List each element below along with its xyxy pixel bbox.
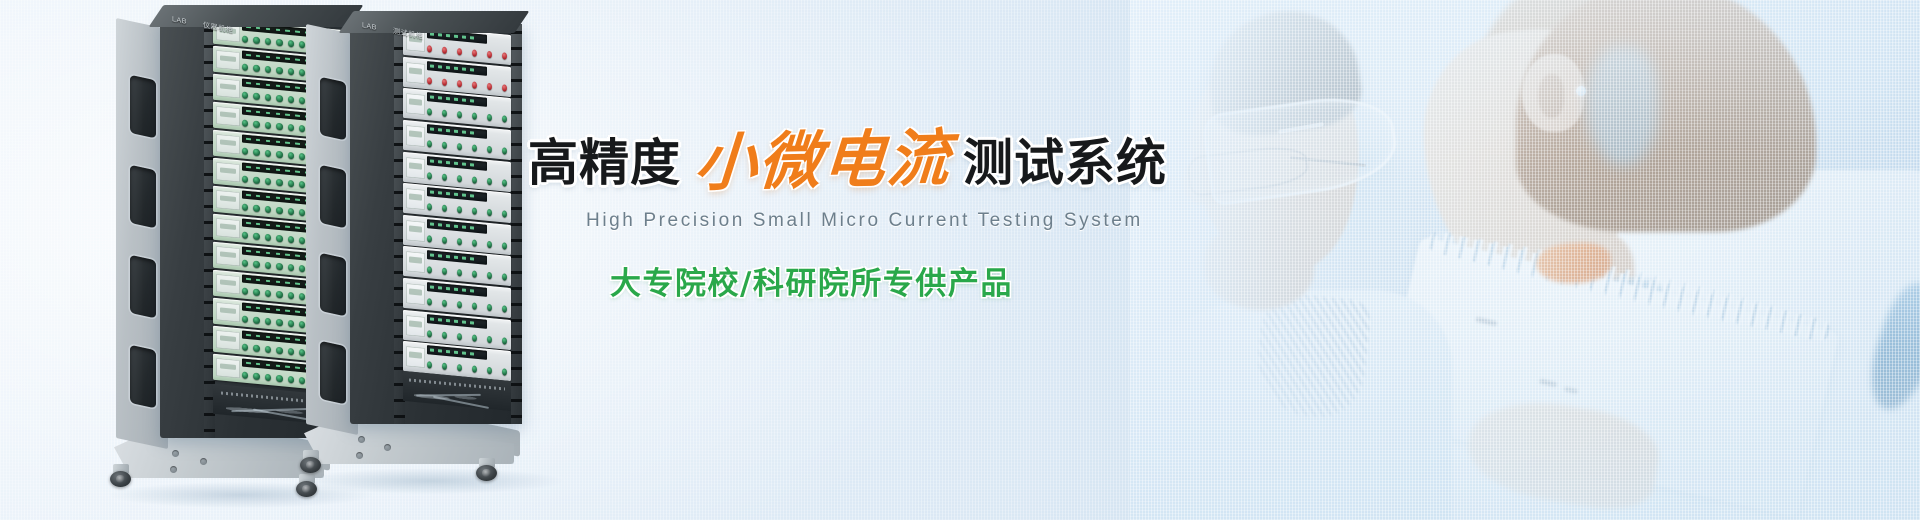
knob-icon <box>253 93 259 100</box>
knob-icon <box>276 319 282 326</box>
product-racks: LAB 仪器机柜 <box>0 0 540 520</box>
knob-icon <box>253 345 259 352</box>
instrument-rack-2: LAB 测试机柜 <box>306 24 518 424</box>
panel-left-module <box>406 252 425 273</box>
knob-icon <box>276 179 282 186</box>
knob-icon <box>265 178 271 185</box>
knob-icon <box>288 96 294 103</box>
headline: 高精度 小微电流 测试系统 <box>528 130 1308 188</box>
base-bolt <box>170 466 177 473</box>
terminal-post-red-icon <box>442 46 447 54</box>
knob-icon <box>265 122 271 129</box>
knob-icon <box>299 349 305 356</box>
terminal-post-green-icon <box>502 337 507 345</box>
terminal-post-green-icon <box>487 240 492 248</box>
terminal-post-green-icon <box>442 173 447 181</box>
knob-icon <box>276 375 282 382</box>
knob-icon <box>242 92 248 99</box>
knob-icon <box>288 180 294 187</box>
knob-icon <box>253 37 259 44</box>
rail-screw-holes <box>511 24 522 424</box>
terminal-post-green-icon <box>442 268 447 276</box>
panel-left-module <box>406 315 425 336</box>
headline-highlight: 小微电流 <box>693 127 954 194</box>
terminal-post-green-icon <box>472 176 477 184</box>
panel-display-icon <box>427 219 487 234</box>
terminal-post-green-icon <box>442 363 447 371</box>
knob-icon <box>299 181 305 188</box>
panel-display-icon <box>427 188 487 203</box>
terminal-post-green-icon <box>427 108 432 116</box>
terminal-post-green-icon <box>457 301 462 309</box>
terminal-post-green-icon <box>502 178 507 186</box>
terminal-post-green-icon <box>427 266 432 274</box>
knob-icon <box>253 177 259 184</box>
vent-slot-icon <box>130 255 156 319</box>
knob-icon <box>265 318 271 325</box>
terminal-post-green-icon <box>442 204 447 212</box>
terminal-post-green-icon <box>502 115 507 123</box>
knob-icon <box>265 234 271 241</box>
knob-icon <box>265 262 271 269</box>
knob-icon <box>265 290 271 297</box>
terminal-post-green-icon <box>427 329 432 337</box>
cable <box>416 394 481 397</box>
cable <box>433 395 489 408</box>
promo-banner: LAB 仪器机柜 <box>0 0 1920 520</box>
panel-left-module <box>216 134 240 153</box>
headline-part-2: 测试系统 <box>963 138 1167 188</box>
terminal-post-green-icon <box>502 242 507 250</box>
panel-display-icon <box>427 314 487 329</box>
terminal-post-green-icon <box>472 365 477 373</box>
knob-icon <box>288 376 294 383</box>
knob-icon <box>265 206 271 213</box>
panel-left-module <box>406 220 425 241</box>
base-bolt <box>356 452 363 459</box>
knob-icon <box>276 67 282 74</box>
terminal-post-green-icon <box>457 142 462 150</box>
knob-icon <box>242 288 248 295</box>
subtitle-english: High Precision Small Micro Current Testi… <box>586 210 1308 232</box>
tagline: 大专院校/科研院所专供产品 <box>610 258 1308 303</box>
knob-icon <box>242 232 248 239</box>
vent-slot-icon <box>320 165 346 229</box>
terminal-post-green-icon <box>472 334 477 342</box>
terminal-post-green-icon <box>487 272 492 280</box>
knob-icon <box>299 237 305 244</box>
base-bolt <box>358 436 365 443</box>
terminal-post-green-icon <box>427 361 432 369</box>
knob-icon <box>253 261 259 268</box>
rack-1-side-vents <box>126 18 160 445</box>
vent-slot-icon <box>320 77 346 141</box>
terminal-post-green-icon <box>442 299 447 307</box>
terminal-post-green-icon <box>502 368 507 376</box>
caster-wheel-icon <box>110 464 132 488</box>
knob-icon <box>265 374 271 381</box>
panel-display-icon <box>427 61 487 76</box>
terminal-post-green-icon <box>502 273 507 281</box>
panel-left-module <box>216 78 240 97</box>
panel-terminal-row <box>427 137 507 156</box>
panel-display-icon <box>427 156 487 171</box>
knob-icon <box>242 176 248 183</box>
knob-icon <box>299 69 305 76</box>
terminal-post-green-icon <box>427 171 432 179</box>
knob-icon <box>253 121 259 128</box>
rack-2-panel-stack <box>403 30 511 376</box>
panel-left-module <box>216 106 240 125</box>
terminal-post-green-icon <box>457 269 462 277</box>
terminal-post-green-icon <box>457 206 462 214</box>
knob-icon <box>299 209 305 216</box>
panel-left-module <box>216 358 240 377</box>
knob-icon <box>288 264 294 271</box>
panel-left-module <box>216 302 240 321</box>
knob-icon <box>265 346 271 353</box>
vent-slot-icon <box>320 253 346 317</box>
panel-left-module <box>406 93 425 114</box>
knob-icon <box>288 124 294 131</box>
knob-icon <box>288 68 294 75</box>
terminal-post-red-icon <box>472 81 477 89</box>
panel-left-module <box>216 190 240 209</box>
panel-left-module <box>216 274 240 293</box>
knob-icon <box>288 152 294 159</box>
terminal-post-green-icon <box>472 239 477 247</box>
knob-icon <box>299 41 305 48</box>
terminal-post-green-icon <box>472 270 477 278</box>
knob-icon <box>299 97 305 104</box>
caster-wheel <box>300 457 321 473</box>
terminal-post-red-icon <box>472 49 477 57</box>
terminal-post-green-icon <box>442 109 447 117</box>
terminal-post-red-icon <box>487 82 492 90</box>
panel-left-module <box>216 50 240 69</box>
knob-icon <box>288 292 294 299</box>
terminal-post-red-icon <box>457 48 462 56</box>
knob-icon <box>253 317 259 324</box>
terminal-post-red-icon <box>442 78 447 86</box>
terminal-post-green-icon <box>442 236 447 244</box>
knob-icon <box>265 150 271 157</box>
knob-icon <box>265 66 271 73</box>
terminal-post-green-icon <box>457 174 462 182</box>
vent-slot-icon <box>130 165 156 229</box>
knob-icon <box>253 373 259 380</box>
knob-icon <box>276 123 282 130</box>
knob-icon <box>242 148 248 155</box>
panel-left-module <box>406 347 425 368</box>
panel-left-module <box>216 330 240 349</box>
terminal-post-green-icon <box>502 147 507 155</box>
knob-icon <box>276 347 282 354</box>
panel-terminal-row <box>427 296 507 315</box>
knob-icon <box>288 348 294 355</box>
knob-icon <box>276 263 282 270</box>
headline-part-1: 高精度 <box>528 138 681 188</box>
knob-icon <box>299 377 305 384</box>
rack-2-side-vents <box>316 24 350 431</box>
terminal-post-green-icon <box>487 145 492 153</box>
knob-icon <box>276 151 282 158</box>
vent-slot-icon <box>320 341 346 405</box>
knob-icon <box>253 233 259 240</box>
knob-icon <box>288 40 294 47</box>
terminal-post-green-icon <box>487 367 492 375</box>
knob-icon <box>253 65 259 72</box>
terminal-post-green-icon <box>457 364 462 372</box>
knob-icon <box>242 372 248 379</box>
knob-icon <box>288 208 294 215</box>
terminal-post-green-icon <box>487 335 492 343</box>
caster-wheel <box>110 471 131 487</box>
rack-1-brand-label: LAB <box>172 16 187 26</box>
terminal-post-green-icon <box>487 177 492 185</box>
terminal-post-green-icon <box>487 114 492 122</box>
knob-icon <box>242 64 248 71</box>
knob-icon <box>276 95 282 102</box>
terminal-post-green-icon <box>502 305 507 313</box>
knob-icon <box>276 39 282 46</box>
panel-display-icon <box>427 93 487 108</box>
knob-icon <box>242 344 248 351</box>
knob-icon <box>299 265 305 272</box>
knob-icon <box>299 125 305 132</box>
terminal-post-red-icon <box>502 52 507 60</box>
panel-left-module <box>406 157 425 178</box>
terminal-post-green-icon <box>427 203 432 211</box>
knob-icon <box>253 205 259 212</box>
vent-slot-icon <box>130 345 156 409</box>
caster-wheel <box>476 465 497 481</box>
terminal-post-green-icon <box>457 237 462 245</box>
rack-2-frame <box>350 24 522 424</box>
terminal-post-red-icon <box>457 79 462 87</box>
knob-icon <box>242 36 248 43</box>
knob-icon <box>265 38 271 45</box>
panel-left-module <box>216 246 240 265</box>
panel-left-module <box>406 283 425 304</box>
terminal-post-green-icon <box>457 111 462 119</box>
terminal-post-red-icon <box>487 50 492 58</box>
panel-left-module <box>216 218 240 237</box>
knob-icon <box>276 291 282 298</box>
knob-icon <box>242 204 248 211</box>
banner-copy: 高精度 小微电流 测试系统 High Precision Small Micro… <box>528 130 1308 303</box>
panel-display-icon <box>427 346 487 361</box>
panel-terminal-row <box>427 201 507 220</box>
knob-icon <box>288 320 294 327</box>
panel-left-module <box>406 188 425 209</box>
panel-left-module <box>216 162 240 181</box>
base-bolt <box>200 458 207 465</box>
terminal-post-red-icon <box>427 45 432 53</box>
panel-left-module <box>406 125 425 146</box>
knob-icon <box>242 316 248 323</box>
rack-2-brand-label: LAB <box>362 22 377 32</box>
knob-icon <box>299 293 305 300</box>
terminal-post-green-icon <box>427 140 432 148</box>
base-bolt <box>384 444 391 451</box>
vent-slot-icon <box>130 75 156 139</box>
terminal-post-green-icon <box>427 298 432 306</box>
panel-display-icon <box>427 251 487 266</box>
terminal-post-green-icon <box>427 235 432 243</box>
caster-wheel-icon <box>300 450 322 474</box>
knob-icon <box>253 149 259 156</box>
terminal-post-green-icon <box>472 112 477 120</box>
terminal-post-green-icon <box>472 302 477 310</box>
terminal-post-green-icon <box>502 210 507 218</box>
base-bolt <box>172 450 179 457</box>
knob-icon <box>288 236 294 243</box>
terminal-post-green-icon <box>487 303 492 311</box>
terminal-post-red-icon <box>427 76 432 84</box>
caster-wheel-icon <box>476 458 498 482</box>
knob-icon <box>242 260 248 267</box>
terminal-post-red-icon <box>502 83 507 91</box>
knob-icon <box>253 289 259 296</box>
knob-icon <box>265 94 271 101</box>
rack-2-rail-right <box>511 24 522 424</box>
terminal-post-green-icon <box>457 332 462 340</box>
terminal-post-green-icon <box>442 141 447 149</box>
panel-display-icon <box>427 283 487 298</box>
terminal-post-green-icon <box>442 331 447 339</box>
terminal-post-green-icon <box>472 144 477 152</box>
knob-icon <box>299 321 305 328</box>
knob-icon <box>276 235 282 242</box>
knob-icon <box>242 120 248 127</box>
knob-icon <box>299 153 305 160</box>
panel-left-module <box>406 62 425 83</box>
terminal-post-green-icon <box>472 207 477 215</box>
panel-terminal-row <box>427 43 507 62</box>
terminal-post-green-icon <box>487 209 492 217</box>
cable <box>232 408 308 412</box>
panel-display-icon <box>427 124 487 139</box>
knob-icon <box>276 207 282 214</box>
